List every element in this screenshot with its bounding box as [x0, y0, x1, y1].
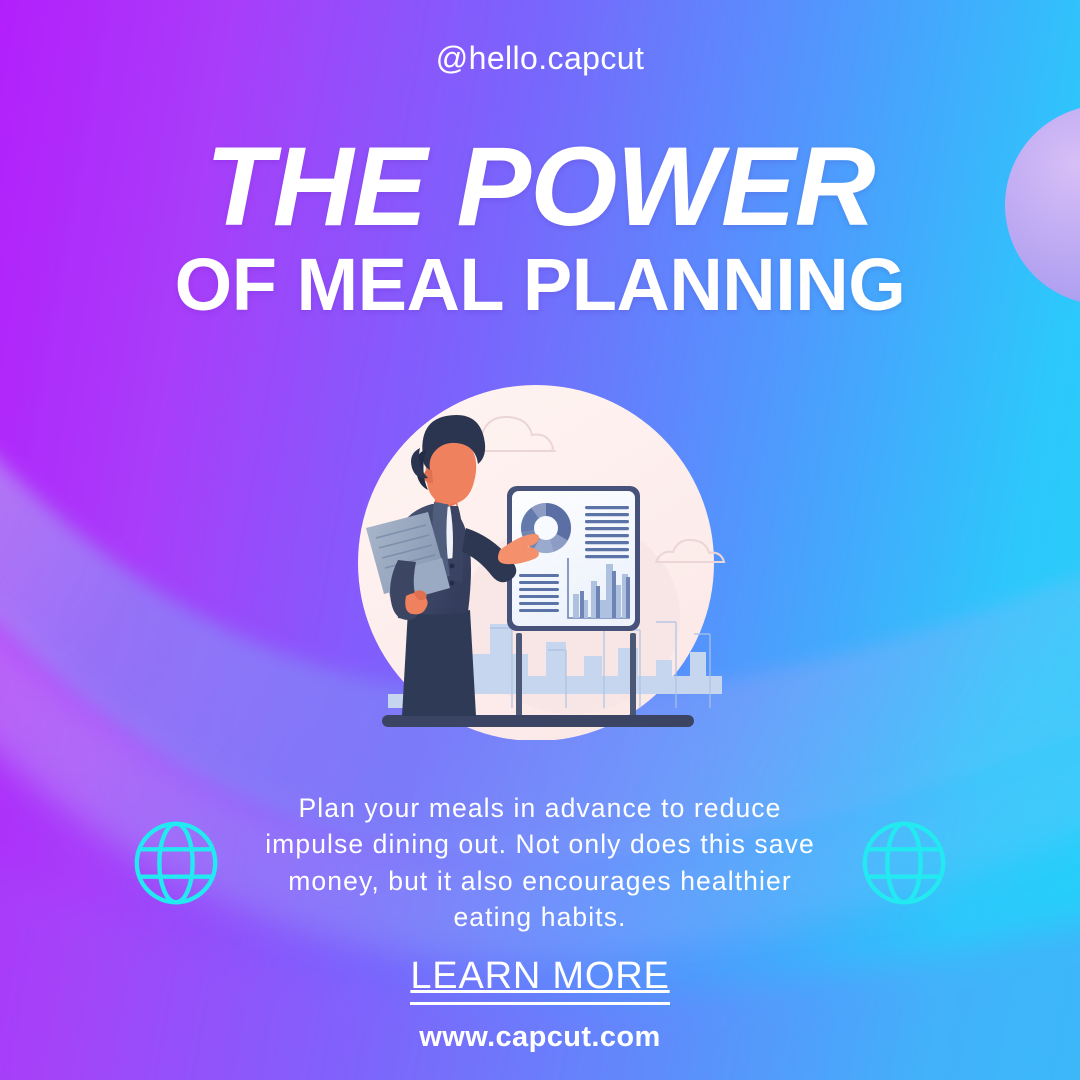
footer-block: LEARN MORE www.capcut.com [0, 955, 1080, 1054]
globe-icon [855, 814, 953, 912]
website-url: www.capcut.com [0, 1021, 1080, 1054]
skirt [402, 610, 476, 716]
body-section: Plan your meals in advance to reduce imp… [0, 790, 1080, 935]
account-handle: @hello.capcut [0, 40, 1080, 77]
illustration-businesswoman-presenting [340, 378, 744, 740]
body-paragraph: Plan your meals in advance to reduce imp… [255, 790, 825, 935]
poster-canvas: @hello.capcut THE POWER OF MEAL PLANNING [0, 0, 1080, 1080]
headline-line-1: THE POWER [0, 133, 1080, 242]
headline-line-2: OF MEAL PLANNING [0, 248, 1080, 322]
headline-block: THE POWER OF MEAL PLANNING [0, 133, 1080, 322]
globe-icon [127, 814, 225, 912]
learn-more-link[interactable]: LEARN MORE [410, 955, 669, 1005]
ground-bar [382, 715, 694, 727]
